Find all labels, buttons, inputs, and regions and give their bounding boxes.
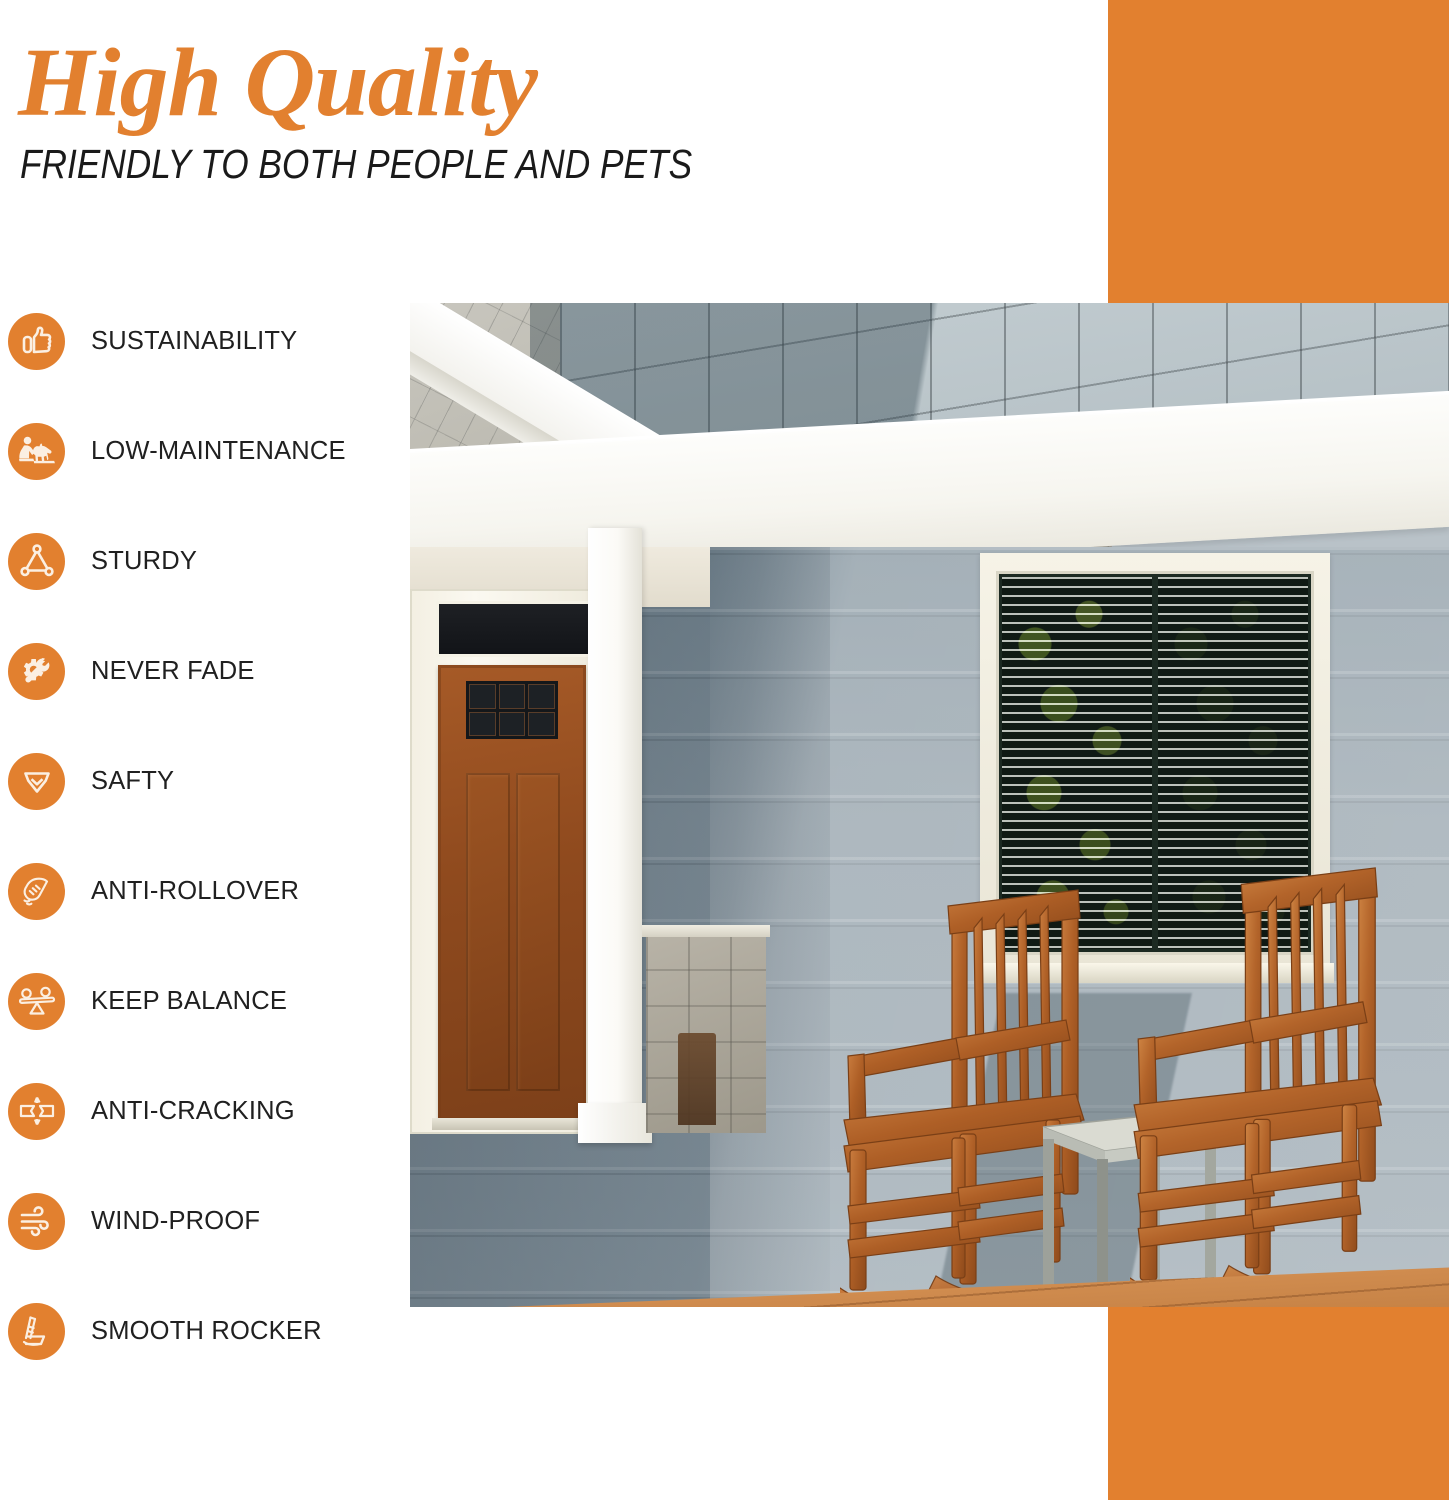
feature-row-low-maintenance: LOW-MAINTENANCE — [0, 396, 400, 506]
stone-veneer-cap — [642, 925, 770, 937]
rocking-chair-icon — [8, 1303, 65, 1360]
porch-column — [588, 528, 642, 1128]
door-pane — [528, 712, 555, 737]
feature-row-wind-proof: WIND-PROOF — [0, 1166, 400, 1276]
feature-row-safty: SAFTY — [0, 726, 400, 836]
shield-check-icon — [8, 753, 65, 810]
right-rocking-chair — [1130, 863, 1449, 1307]
feature-label: STURDY — [91, 547, 197, 576]
feature-label: SAFTY — [91, 767, 174, 796]
feature-label: ANTI-ROLLOVER — [91, 877, 299, 906]
feature-label: WIND-PROOF — [91, 1207, 260, 1236]
feature-row-anti-cracking: ANTI-CRACKING — [0, 1056, 400, 1166]
person-with-dog-icon — [8, 423, 65, 480]
door-pane — [499, 684, 526, 709]
seesaw-balance-icon — [8, 973, 65, 1030]
feature-label: ANTI-CRACKING — [91, 1097, 295, 1126]
feature-row-keep-balance: KEEP BALANCE — [0, 946, 400, 1056]
feature-row-sturdy: STURDY — [0, 506, 400, 616]
feature-label: NEVER FADE — [91, 657, 255, 686]
product-lifestyle-photo — [410, 303, 1449, 1307]
feature-row-sustainability: SUSTAINABILITY — [0, 286, 400, 396]
door-glass-panes — [466, 681, 558, 739]
infographic-page: High Quality FRIENDLY TO BOTH PEOPLE AND… — [0, 0, 1449, 1500]
door-panel-right — [516, 773, 560, 1091]
feature-row-anti-rollover: ANTI-ROLLOVER — [0, 836, 400, 946]
triangle-nodes-icon — [8, 533, 65, 590]
gear-wrench-icon — [8, 643, 65, 700]
header: High Quality FRIENDLY TO BOTH PEOPLE AND… — [18, 34, 1078, 187]
feature-label: LOW-MAINTENANCE — [91, 437, 346, 466]
door-pane — [469, 712, 496, 737]
feature-label: KEEP BALANCE — [91, 987, 287, 1016]
cracked-board-icon — [8, 1083, 65, 1140]
door-panel-left — [466, 773, 510, 1091]
thumbs-up-icon — [8, 313, 65, 370]
hand-wiping-icon — [8, 863, 65, 920]
page-subtitle: FRIENDLY TO BOTH PEOPLE AND PETS — [20, 142, 930, 187]
orange-block-top-right — [1108, 0, 1449, 303]
wind-icon — [8, 1193, 65, 1250]
door-pane — [499, 712, 526, 737]
page-title: High Quality — [18, 34, 1078, 132]
feature-list: SUSTAINABILITY LOW-MAINTENANCE — [0, 286, 400, 1386]
feature-label: SMOOTH ROCKER — [91, 1317, 322, 1346]
door-pane — [528, 684, 555, 709]
orange-block-bottom-right — [1108, 1307, 1449, 1500]
porch-column-base — [578, 1103, 652, 1143]
downspout — [678, 1033, 716, 1125]
door-pane — [469, 684, 496, 709]
transom-window — [436, 601, 594, 657]
feature-row-never-fade: NEVER FADE — [0, 616, 400, 726]
door-threshold — [432, 1118, 592, 1130]
feature-label: SUSTAINABILITY — [91, 327, 297, 356]
feature-row-smooth-rocker: SMOOTH ROCKER — [0, 1276, 400, 1386]
